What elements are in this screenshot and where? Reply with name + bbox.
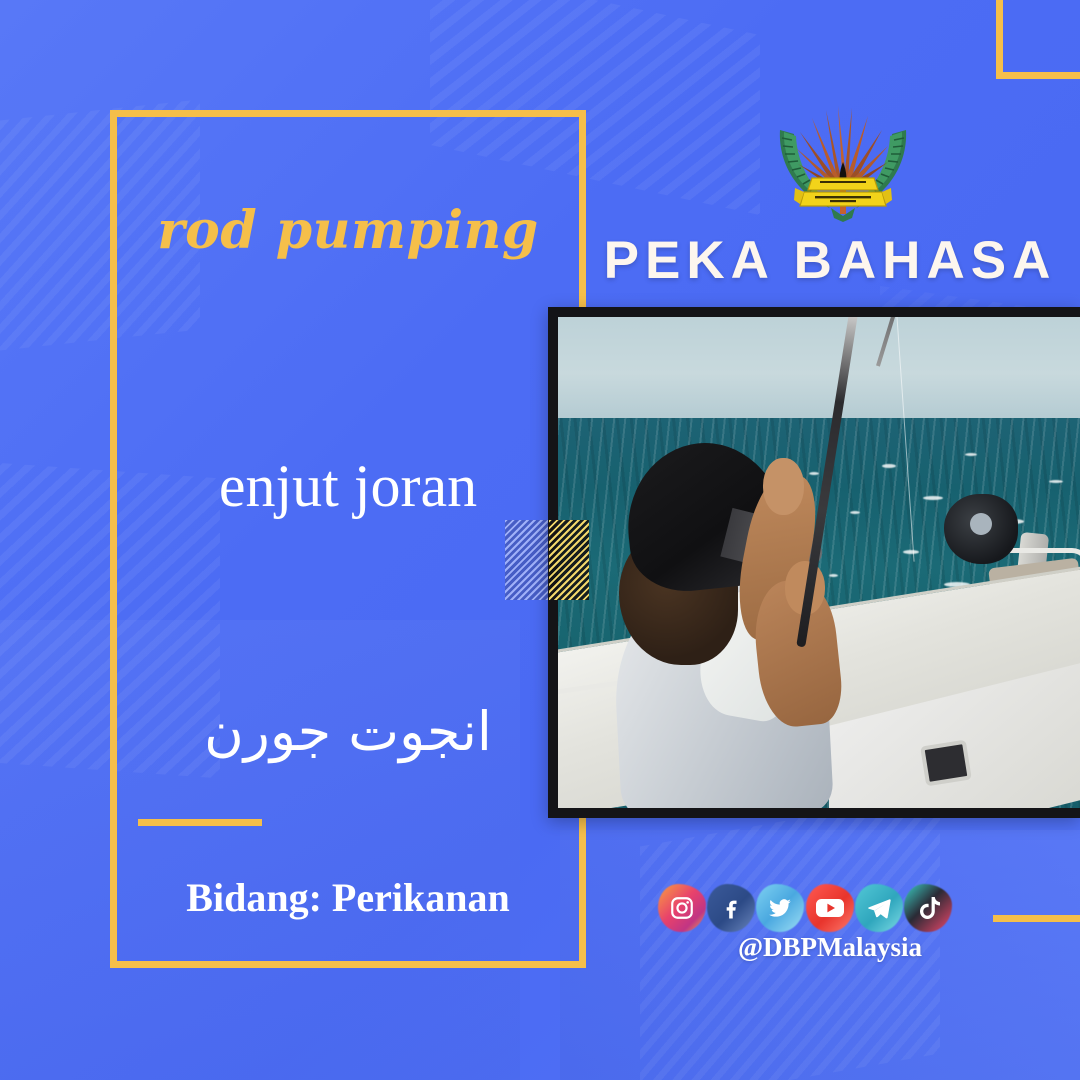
- facebook-icon[interactable]: [709, 886, 753, 930]
- deck-hatch: [921, 740, 973, 787]
- hatch-square-overlap: [549, 520, 589, 600]
- feature-photo: [548, 307, 1080, 818]
- brand-title: PEKA BAHASA: [600, 230, 1060, 291]
- dbp-logo: [768, 104, 918, 222]
- term-english: rod pumping: [110, 200, 586, 261]
- photo-sky: [558, 317, 1080, 420]
- corner-accent-top-right-vertical: [996, 0, 1003, 79]
- twitter-icon[interactable]: [758, 886, 802, 930]
- instagram-icon[interactable]: [660, 886, 704, 930]
- social-handle: @DBPMalaysia: [600, 932, 1060, 963]
- telegram-icon[interactable]: [857, 886, 901, 930]
- accent-line-bottom-right: [993, 915, 1080, 922]
- youtube-icon[interactable]: [808, 886, 852, 930]
- corner-accent-top-right-horizontal: [996, 72, 1080, 79]
- poster-canvas: PEKA BAHASA: [0, 0, 1080, 1080]
- field-label: Bidang: Perikanan: [110, 874, 586, 921]
- divider-line: [138, 819, 262, 826]
- angler-hand-upper: [763, 458, 804, 515]
- term-malay: enjut joran: [110, 452, 586, 521]
- tiktok-icon[interactable]: [906, 886, 950, 930]
- term-jawi: انجوت جورن: [110, 700, 586, 763]
- social-links: [660, 878, 950, 938]
